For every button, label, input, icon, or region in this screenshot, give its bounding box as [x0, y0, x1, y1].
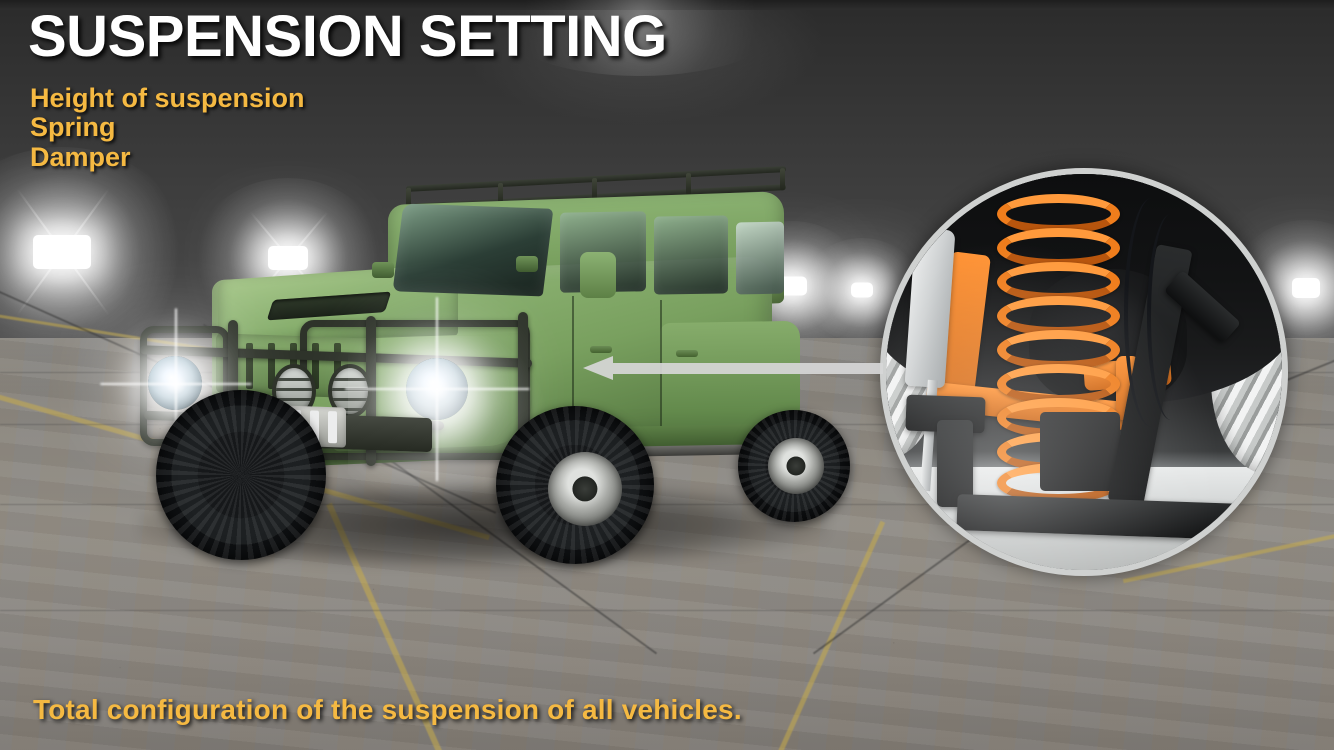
rear-quarter-window	[736, 222, 784, 295]
feature-item-height: Height of suspension	[30, 84, 305, 113]
slide-canvas: SUSPENSION SETTING Height of suspension …	[0, 0, 1334, 750]
inset-highlight	[886, 174, 1282, 570]
suspension-photo	[886, 174, 1282, 570]
windshield	[393, 204, 554, 297]
feature-item-spring: Spring	[30, 113, 305, 142]
floor-seam	[0, 610, 1334, 611]
bottom-caption: Total configuration of the suspension of…	[33, 694, 742, 726]
headlight-left	[148, 356, 202, 410]
side-window-rear	[654, 215, 728, 294]
feature-list: Height of suspension Spring Damper	[30, 84, 305, 172]
door-handle	[590, 346, 612, 353]
side-mirror	[516, 256, 538, 272]
front-wheel	[156, 390, 326, 560]
feature-item-damper: Damper	[30, 143, 305, 172]
seat-headrest	[580, 252, 616, 298]
rear-wheel-far	[738, 410, 850, 522]
side-mirror	[372, 262, 394, 278]
callout-arrow	[583, 354, 883, 382]
rear-wheel-near	[496, 406, 654, 564]
suspension-closeup-inset[interactable]	[880, 168, 1288, 576]
page-title: SUSPENSION SETTING	[28, 8, 667, 66]
